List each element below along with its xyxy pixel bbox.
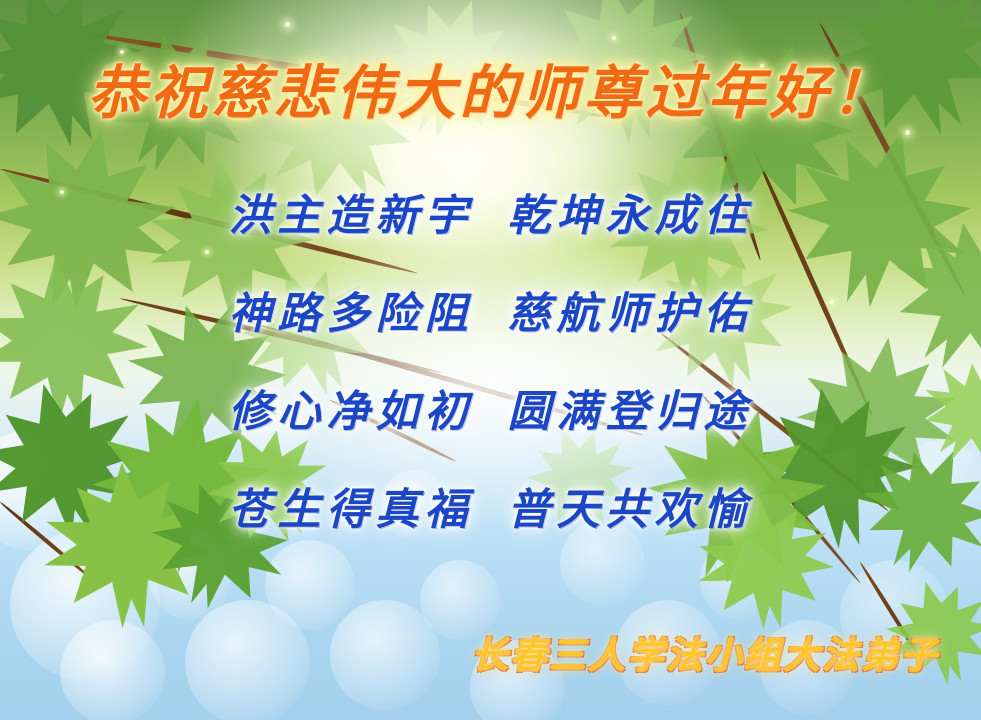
poem-line-left: 神路多险阻 xyxy=(229,289,474,339)
greeting-card: 恭祝慈悲伟大的师尊过年好！ 洪主造新宇乾坤永成住 神路多险阻慈航师护佑 修心净如… xyxy=(0,0,981,720)
page-title: 恭祝慈悲伟大的师尊过年好！ xyxy=(0,60,981,126)
poem-line-left: 苍生得真福 xyxy=(229,485,474,535)
poem-line-right: 乾坤永成住 xyxy=(508,191,753,241)
poem: 洪主造新宇乾坤永成住 神路多险阻慈航师护佑 修心净如初圆满登归途 苍生得真福普天… xyxy=(0,192,981,584)
poem-line-right: 慈航师护佑 xyxy=(508,289,753,339)
bokeh-circle xyxy=(185,600,310,720)
poem-line: 洪主造新宇乾坤永成住 xyxy=(0,192,981,290)
poem-line: 修心净如初圆满登归途 xyxy=(0,388,981,486)
signature: 长春三人学法小组大法弟子 xyxy=(471,633,939,679)
poem-line-left: 洪主造新宇 xyxy=(229,191,474,241)
poem-line: 神路多险阻慈航师护佑 xyxy=(0,290,981,388)
bokeh-circle xyxy=(330,600,440,710)
poem-line-right: 普天共欢愉 xyxy=(508,485,753,535)
poem-line-left: 修心净如初 xyxy=(229,387,474,437)
bokeh-circle xyxy=(60,620,165,720)
poem-line: 苍生得真福普天共欢愉 xyxy=(0,486,981,584)
poem-line-right: 圆满登归途 xyxy=(508,387,753,437)
